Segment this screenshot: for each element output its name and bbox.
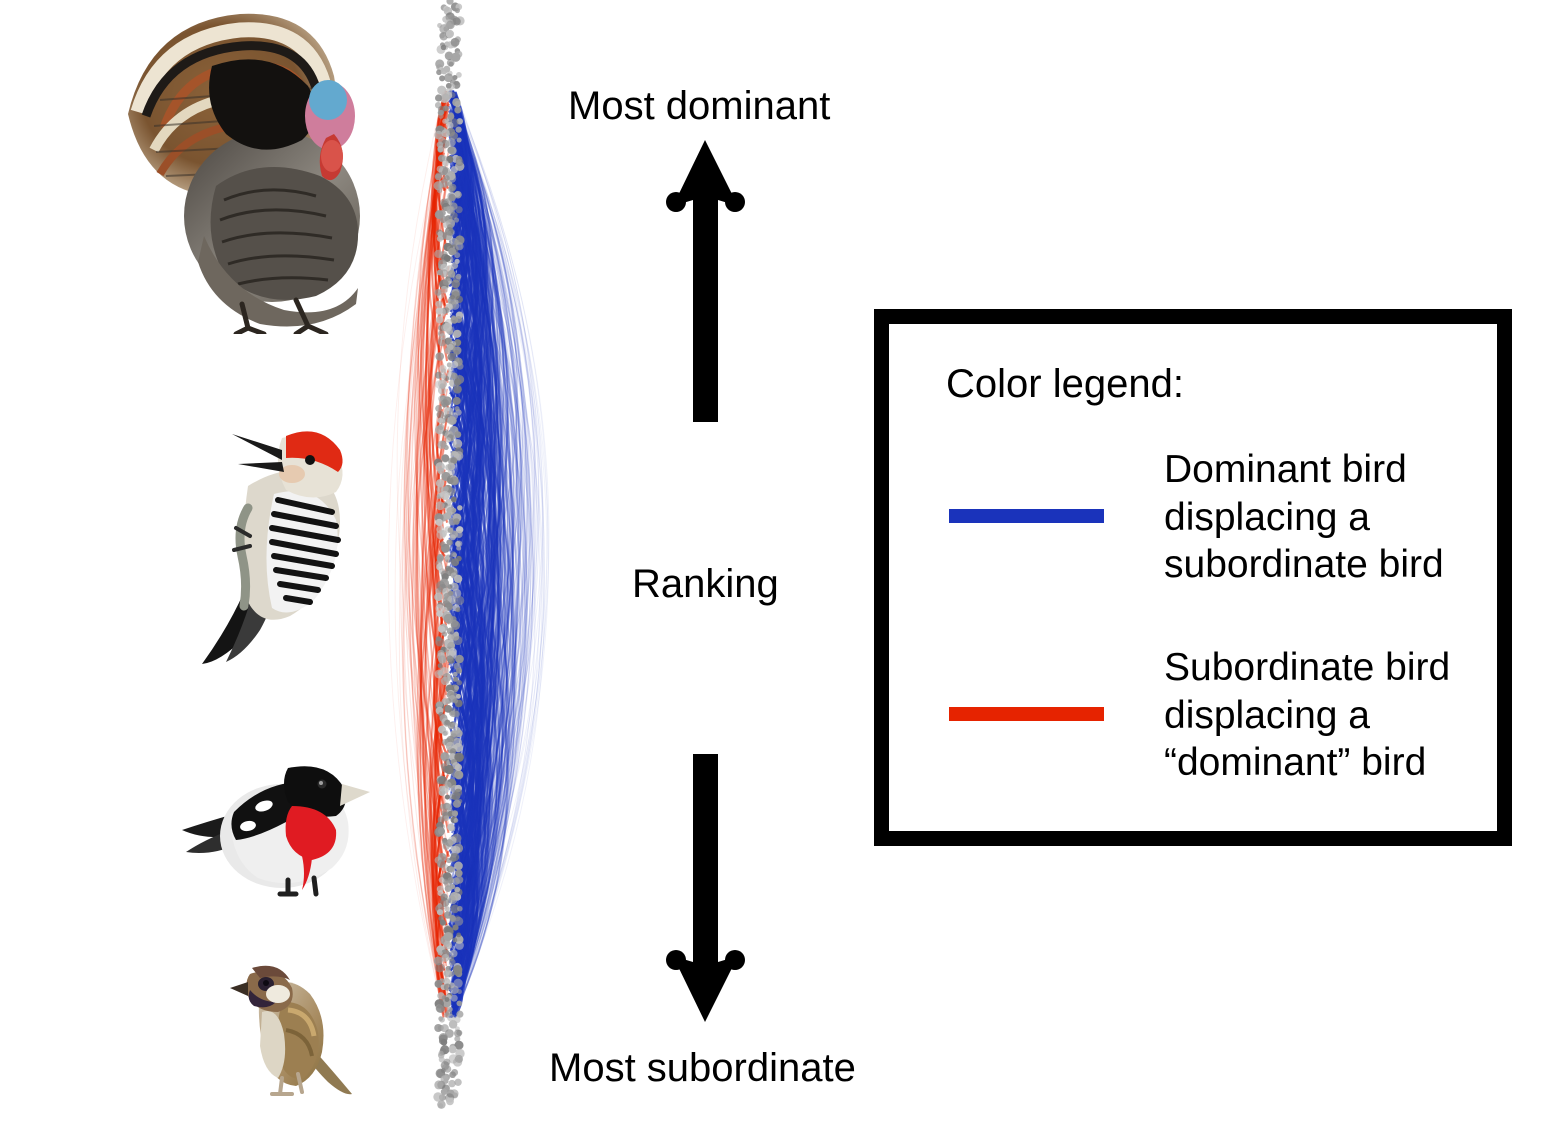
rank-node (433, 1092, 442, 1101)
rank-node (453, 1058, 462, 1067)
rank-node (441, 368, 447, 374)
rank-node (451, 795, 456, 800)
rank-node (454, 575, 462, 583)
rank-node (455, 8, 460, 13)
rank-node (438, 663, 443, 668)
rank-node (444, 906, 450, 912)
rank-node (456, 546, 461, 551)
rank-node (445, 795, 450, 800)
rank-node (454, 378, 461, 385)
rank-node (455, 869, 462, 876)
rank-node (447, 823, 454, 830)
arc-group-dominant-displacing-subordinate (449, 90, 549, 1017)
rank-node (441, 45, 447, 51)
rank-node (456, 387, 461, 392)
rank-node (435, 963, 444, 972)
rank-node (441, 1039, 448, 1046)
rank-node (437, 166, 444, 173)
rank-node (434, 593, 442, 601)
rank-node (441, 374, 446, 379)
rank-node (437, 554, 444, 561)
legend-label-subordinate: Subordinate bird displacing a “dominant”… (1164, 644, 1497, 787)
rank-node (435, 670, 444, 679)
rank-node (455, 406, 460, 411)
rank-node (446, 1098, 454, 1106)
arc-diagram-figure: Most dominant Ranking Most subordinate C… (0, 0, 1562, 1126)
rank-node (452, 810, 458, 816)
up-arrow-icon (660, 138, 750, 424)
rank-node (442, 93, 450, 101)
rank-node (454, 106, 461, 113)
rank-node (435, 173, 442, 180)
rank-node (457, 1001, 463, 1007)
rank-node (435, 352, 444, 361)
rank-node (435, 301, 442, 308)
rank-node (436, 530, 446, 540)
rank-node (455, 596, 464, 605)
rank-node (434, 250, 442, 258)
rank-node (436, 610, 443, 617)
rank-node (448, 62, 453, 67)
rank-node (436, 501, 445, 510)
legend-swatch-cell-dominant (889, 446, 1164, 586)
rank-node (440, 804, 446, 810)
rank-node (436, 1004, 445, 1013)
rank-node (446, 437, 451, 442)
rank-node (447, 138, 455, 146)
rank-node (453, 518, 460, 525)
rank-node (444, 781, 451, 788)
rank-node (441, 677, 449, 685)
rank-node (435, 638, 444, 647)
rank-node (454, 789, 462, 797)
rank-node (435, 405, 442, 412)
rank-node (455, 941, 464, 950)
rank-node (446, 655, 453, 662)
rank-node (434, 1080, 443, 1089)
rank-node (436, 316, 443, 323)
rank-node (444, 941, 450, 947)
arc-diagram-plot (330, 0, 650, 1126)
rank-node (437, 909, 443, 915)
rank-node (446, 30, 454, 38)
rank-node (437, 778, 444, 785)
legend-swatch-blue (949, 509, 1104, 523)
rank-node (457, 505, 462, 510)
rank-node (437, 859, 446, 868)
rank-node (437, 145, 444, 152)
rank-node (450, 853, 459, 862)
rank-node (438, 468, 445, 475)
rank-node (438, 950, 443, 955)
rank-node (441, 68, 448, 75)
rank-node (457, 989, 462, 994)
rank-node (455, 242, 463, 250)
rank-node (449, 184, 456, 191)
rank-node (435, 94, 442, 101)
rank-node (440, 919, 446, 925)
rank-node (437, 188, 442, 193)
color-legend-box: Color legend: Dominant bird displacing a… (874, 309, 1512, 846)
rank-node (453, 636, 462, 645)
rank-node (436, 519, 443, 526)
rank-node (436, 307, 443, 314)
rank-node (444, 984, 451, 991)
rank-node (445, 997, 450, 1002)
rank-node (448, 248, 456, 256)
legend-swatch-cell-subordinate (889, 644, 1164, 784)
rank-node (455, 655, 464, 664)
rank-node (444, 348, 450, 354)
rank-node (442, 119, 447, 124)
down-arrow-icon (660, 752, 750, 1024)
axis-label-ranking: Ranking (632, 562, 779, 606)
rank-node (442, 454, 450, 462)
rank-node (437, 236, 443, 242)
rank-node (454, 431, 461, 438)
rank-node (451, 53, 460, 62)
rank-node (438, 828, 445, 835)
rank-node (455, 126, 461, 132)
axis-label-most-dominant: Most dominant (568, 84, 830, 128)
rank-node (455, 531, 462, 538)
rank-node (453, 818, 458, 823)
rank-node (437, 411, 445, 419)
rank-node (449, 866, 455, 872)
rank-node (454, 1079, 461, 1086)
rank-node (445, 765, 454, 774)
rank-node (448, 895, 455, 902)
rank-node (442, 731, 447, 736)
rank-node (453, 672, 458, 677)
rank-node (453, 275, 460, 282)
rank-node (457, 906, 463, 912)
rank-node (443, 278, 450, 285)
legend-label-dominant: Dominant bird displacing a subordinate b… (1164, 446, 1497, 589)
rank-node (456, 932, 461, 937)
rank-node (456, 694, 461, 699)
rank-node (441, 399, 449, 407)
rank-node (454, 711, 460, 717)
rank-node (437, 441, 445, 449)
rank-node (454, 970, 460, 976)
rank-node (454, 685, 459, 690)
legend-title: Color legend: (946, 362, 1184, 407)
rank-node (440, 269, 448, 277)
rank-node (455, 862, 462, 869)
rank-node (451, 315, 456, 320)
rank-node (456, 680, 462, 686)
rank-node (439, 785, 445, 791)
rank-node (437, 1100, 445, 1108)
rank-node (438, 1016, 443, 1021)
rank-node (448, 956, 454, 962)
rank-node (446, 83, 452, 89)
rank-node (437, 418, 443, 424)
rank-node (444, 512, 452, 520)
rank-node (443, 840, 448, 845)
rank-node (449, 1071, 456, 1078)
rank-node (451, 497, 457, 503)
rank-node (449, 1020, 458, 1029)
rank-node (451, 361, 458, 368)
rank-node (441, 129, 449, 137)
rank-node (444, 969, 452, 977)
rank-node (435, 289, 442, 296)
rank-node (453, 698, 458, 703)
rank-node (439, 492, 444, 497)
rank-node (455, 771, 464, 780)
rank-node (451, 995, 458, 1002)
rank-node (452, 938, 457, 943)
rank-node (447, 477, 454, 484)
rank-node (450, 295, 455, 300)
rank-node (453, 800, 461, 808)
rank-node (450, 534, 456, 540)
rank-node (435, 59, 444, 68)
rank-node (443, 486, 448, 491)
rank-node (445, 504, 454, 513)
rank-node (453, 330, 461, 338)
rank-node (442, 160, 448, 166)
rank-node (455, 876, 463, 884)
rank-node (456, 158, 464, 166)
rank-node (439, 877, 445, 883)
rank-node (440, 541, 446, 547)
rank-node (457, 137, 462, 142)
legend-item-subordinate: Subordinate bird displacing a “dominant”… (889, 644, 1497, 787)
rank-node (448, 723, 454, 729)
rank-node (455, 316, 462, 323)
rank-node (456, 607, 461, 612)
rank-node (438, 424, 444, 430)
rank-node (447, 147, 454, 154)
rank-node (439, 333, 446, 340)
rank-node (445, 885, 452, 892)
rank-node (443, 323, 452, 332)
rank-node (447, 416, 456, 425)
rank-node (442, 156, 448, 162)
rank-node (452, 98, 460, 106)
rank-node (453, 397, 461, 405)
rank-node (442, 631, 447, 636)
rank-node (438, 655, 446, 663)
rank-node (448, 1080, 455, 1087)
rank-node (451, 558, 459, 566)
rank-node (438, 386, 446, 394)
rank-node (454, 887, 460, 893)
legend-item-dominant: Dominant bird displacing a subordinate b… (889, 446, 1497, 589)
legend-swatch-red (949, 707, 1104, 721)
rank-node (438, 113, 443, 118)
axis-label-most-subordinate: Most subordinate (549, 1046, 856, 1090)
rank-node (451, 38, 460, 47)
